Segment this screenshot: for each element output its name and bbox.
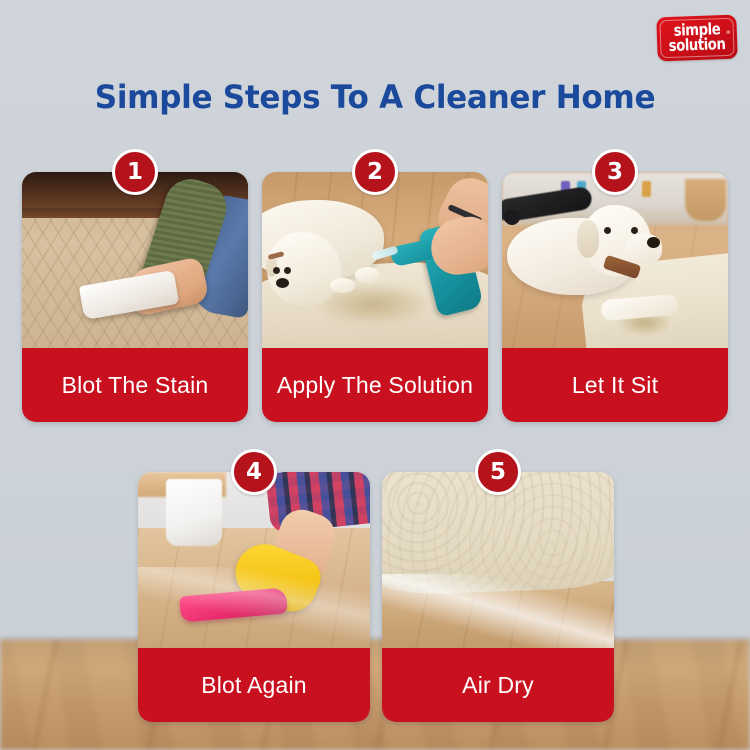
scene-air-dry [382, 472, 614, 648]
puppy-eye-left [604, 227, 611, 234]
step-1-photo [22, 172, 248, 348]
puppy-nose [276, 278, 289, 288]
puppy-collar [268, 251, 285, 260]
scene-blot-the-stain [22, 172, 248, 348]
step-badge-4: 4 [231, 449, 277, 495]
step-3-photo [502, 172, 728, 348]
puppy-nose [647, 237, 660, 248]
step-card-3-body: Let It Sit [502, 172, 728, 422]
puppy-eye-right [284, 267, 291, 274]
step-card-5[interactable]: Air Dry 5 [382, 472, 614, 722]
simple-solution-logo[interactable]: simple solution ® [656, 15, 737, 62]
white-bucket [166, 479, 222, 546]
puppy-eye-left [273, 267, 280, 274]
background-fur [685, 179, 726, 221]
step-card-1[interactable]: Blot The Stain 1 [22, 172, 248, 422]
step-card-4-body: Blot Again [138, 472, 370, 722]
infographic-page: simple solution ® Simple Steps To A Clea… [0, 0, 750, 750]
scene-let-it-sit [502, 172, 728, 348]
background-box-orange [642, 181, 651, 197]
step-1-label: Blot The Stain [22, 348, 248, 422]
floor-glare [382, 574, 614, 648]
step-card-4[interactable]: Blot Again 4 [138, 472, 370, 722]
puppy-paw-back [355, 267, 380, 283]
puppy-ear [577, 220, 600, 259]
scene-blot-again [138, 472, 370, 648]
step-4-label: Blot Again [138, 648, 370, 722]
step-card-2-body: Apply The Solution [262, 172, 488, 422]
step-2-label: Apply The Solution [262, 348, 488, 422]
registered-mark-icon: ® [726, 30, 731, 36]
puppy-paw-front [330, 278, 355, 294]
step-5-photo [382, 472, 614, 648]
step-card-3[interactable]: Let It Sit 3 [502, 172, 728, 422]
floor-sheen [138, 567, 370, 648]
step-4-photo [138, 472, 370, 648]
step-card-1-body: Blot The Stain [22, 172, 248, 422]
step-2-photo [262, 172, 488, 348]
step-card-5-body: Air Dry [382, 472, 614, 722]
puppy-head [267, 232, 342, 306]
step-badge-2: 2 [352, 149, 398, 195]
step-badge-3: 3 [592, 149, 638, 195]
wood-floor-backdrop [0, 640, 750, 750]
puppy-eye-right [631, 227, 638, 234]
logo-line-solution: solution [669, 37, 726, 54]
scene-apply-the-solution [262, 172, 488, 348]
step-5-label: Air Dry [382, 648, 614, 722]
step-badge-1: 1 [112, 149, 158, 195]
step-card-2[interactable]: Apply The Solution 2 [262, 172, 488, 422]
page-title: Simple Steps To A Cleaner Home [11, 78, 739, 116]
step-badge-5: 5 [475, 449, 521, 495]
step-3-label: Let It Sit [502, 348, 728, 422]
